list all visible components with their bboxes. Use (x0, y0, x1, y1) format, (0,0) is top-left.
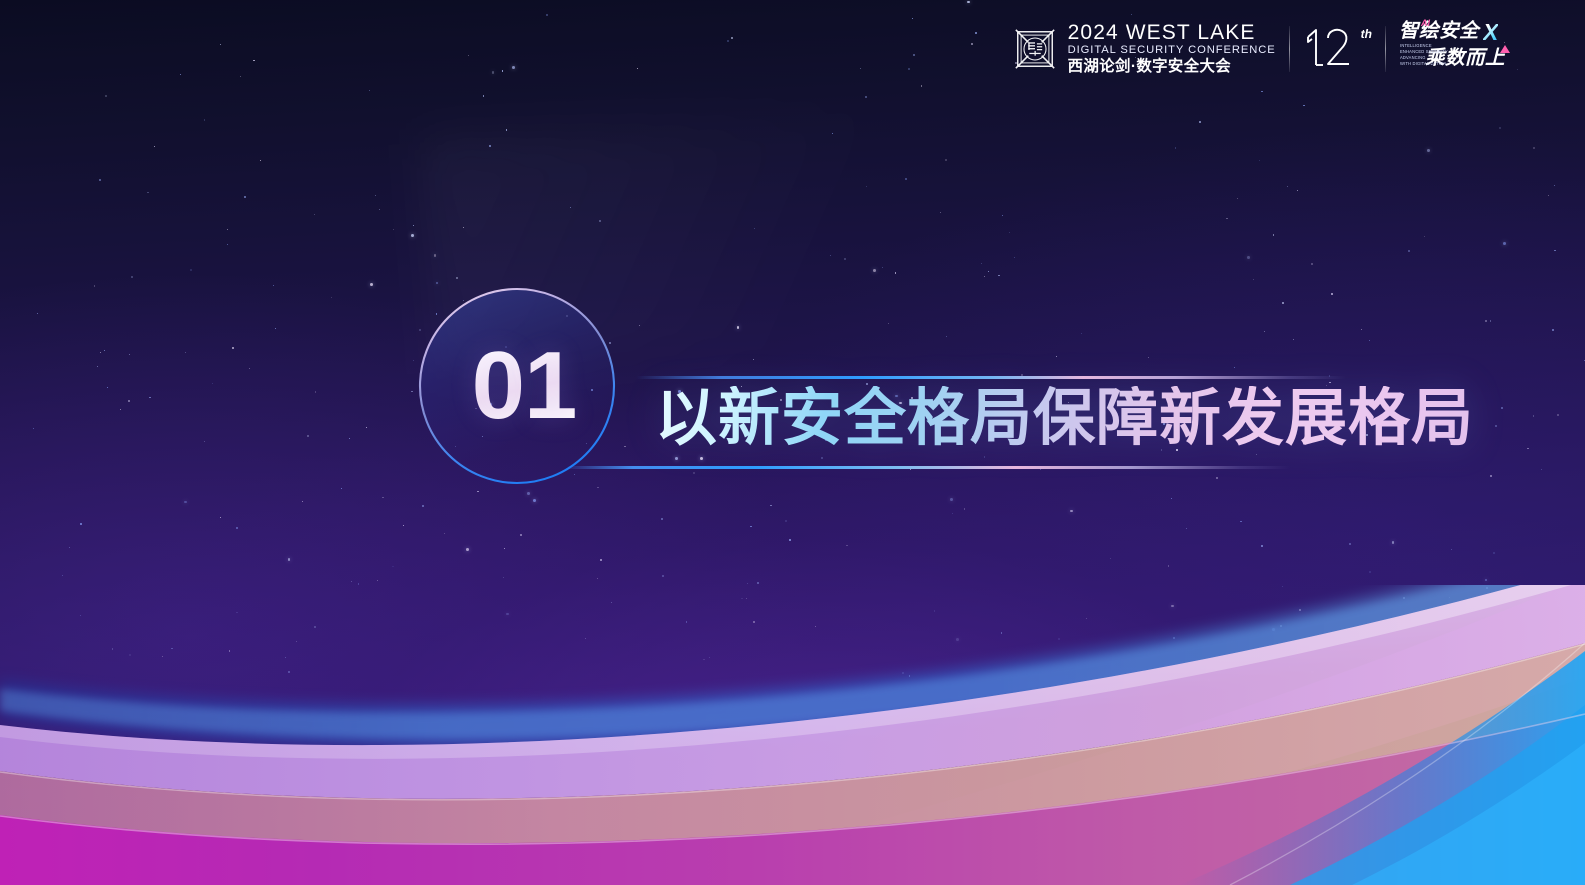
star-dot (700, 457, 703, 460)
star-dot (220, 44, 221, 45)
star-dot (506, 129, 507, 130)
edition-ordinal-label: th (1361, 27, 1372, 41)
star-dot (709, 657, 710, 658)
star-dot (984, 276, 985, 277)
star-dot (162, 656, 163, 657)
star-dot (1058, 638, 1060, 640)
star-dot (288, 671, 290, 673)
star-dot (382, 497, 383, 498)
star-dot (456, 277, 457, 278)
star-dot (769, 430, 770, 431)
star-dot (483, 95, 484, 96)
star-dot (1208, 679, 1211, 682)
star-dot (184, 501, 187, 504)
star-dot (506, 613, 509, 616)
light-streak-decoration (423, 98, 1077, 372)
star-dot (899, 402, 902, 405)
star-dot (1408, 250, 1410, 252)
star-dot (895, 272, 896, 273)
star-dot (913, 54, 915, 56)
star-dot (1485, 320, 1487, 322)
star-dot (411, 234, 414, 237)
star-dot (533, 499, 536, 502)
star-dot (1485, 579, 1488, 582)
star-dot (1166, 377, 1167, 378)
star-dot (204, 441, 205, 442)
bottom-ribbon-decoration (0, 585, 1585, 885)
star-dot (940, 212, 941, 213)
star-dot (814, 410, 816, 412)
star-dot (1369, 571, 1371, 573)
star-dot (1490, 475, 1492, 477)
star-dot (1461, 635, 1463, 637)
conference-year-label: 2024 WEST LAKE (1068, 22, 1276, 44)
star-dot (505, 346, 507, 348)
star-dot (1329, 382, 1330, 383)
star-dot (1282, 586, 1283, 587)
star-dot (662, 575, 664, 577)
conference-name-group: 2024 WEST LAKE DIGITAL SECURITY CONFEREN… (1068, 23, 1276, 75)
star-dot (492, 71, 495, 74)
star-dot (1259, 160, 1260, 161)
star-dot (825, 439, 827, 441)
star-dot (1326, 385, 1327, 386)
title-rule-top (636, 376, 1346, 379)
star-dot (585, 638, 586, 639)
star-dot (815, 626, 816, 627)
star-dot (956, 638, 959, 641)
star-dot (1272, 628, 1275, 631)
conference-subtitle-label: DIGITAL SECURITY CONFERENCE (1068, 43, 1276, 58)
star-dot (1070, 510, 1073, 513)
star-dot (946, 336, 947, 337)
star-dot (69, 547, 70, 548)
conference-logo-lockup: 2024 WEST LAKE DIGITAL SECURITY CONFEREN… (1012, 20, 1517, 78)
slogan-english-lines: INTELLIGENCEENHANCED SECURITYADVANCINGWI… (1400, 43, 1448, 67)
star-dot (1297, 190, 1298, 191)
star-dot (413, 360, 414, 361)
logo-divider-2 (1385, 26, 1386, 72)
star-dot (527, 492, 530, 495)
star-dot (1237, 198, 1238, 199)
edition-badge: th (1303, 25, 1372, 73)
star-dot (1148, 357, 1149, 358)
star-dot (512, 66, 515, 69)
ring-fill (419, 288, 615, 484)
star-dot (866, 186, 867, 187)
star-dot (821, 457, 823, 459)
star-dot (1427, 149, 1430, 152)
star-dot (131, 276, 133, 278)
star-dot (1303, 105, 1304, 106)
star-dot (62, 575, 63, 576)
star-dot (232, 347, 234, 349)
star-dot (1261, 91, 1262, 92)
star-dot (129, 354, 130, 355)
title-rule-bottom (568, 466, 1290, 469)
star-dot (1287, 186, 1288, 187)
star-dot (1541, 469, 1542, 470)
star-dot (731, 37, 733, 39)
star-dot (504, 548, 505, 549)
star-dot (1289, 666, 1290, 667)
star-dot (1533, 147, 1535, 149)
star-dot (952, 513, 953, 514)
star-dot (1329, 375, 1330, 376)
star-dot (482, 436, 483, 437)
star-dot (675, 457, 678, 460)
star-dot (351, 581, 352, 582)
star-dot (503, 577, 504, 578)
section-number-ring (419, 288, 615, 484)
star-dot (393, 229, 394, 230)
star-dot (975, 32, 977, 34)
star-dot (888, 323, 889, 324)
star-dot (1527, 448, 1528, 449)
star-dot (341, 488, 342, 489)
star-dot (468, 55, 469, 56)
logo-divider-1 (1289, 26, 1290, 72)
star-dot (873, 269, 876, 272)
star-dot (1014, 257, 1015, 258)
star-dot (1264, 331, 1265, 332)
star-dot (967, 1, 970, 4)
star-dot (240, 76, 241, 77)
star-dot (661, 518, 663, 520)
star-dot (331, 297, 332, 298)
star-dot (830, 255, 831, 256)
star-dot (1256, 454, 1257, 455)
star-dot (754, 228, 755, 229)
star-dot (910, 469, 911, 470)
star-dot (724, 437, 725, 438)
star-dot (1081, 333, 1082, 334)
star-dot (1385, 685, 1386, 686)
section-title-label: 以新安全格局保障新发展格局 (655, 386, 1474, 451)
star-dot (1163, 423, 1165, 425)
star-dot (1499, 127, 1501, 129)
star-dot (1234, 367, 1235, 368)
star-dot (1554, 185, 1555, 186)
star-dot (1495, 425, 1497, 427)
star-dot (1403, 597, 1405, 599)
star-dot (950, 498, 953, 501)
star-dot (403, 525, 404, 526)
star-dot (912, 18, 913, 19)
star-dot (288, 558, 291, 561)
star-dot (358, 583, 359, 584)
slogan-ai-mark: AI (1421, 19, 1430, 28)
star-dot (1110, 558, 1111, 559)
star-dot (1490, 320, 1491, 321)
star-dot (244, 196, 246, 198)
star-dot (1247, 256, 1250, 259)
star-dot (100, 352, 101, 353)
star-dot (746, 598, 747, 599)
star-dot (97, 366, 98, 367)
star-dot (422, 505, 424, 507)
star-dot (909, 675, 910, 676)
star-dot (463, 227, 464, 228)
star-dot (1446, 641, 1448, 643)
star-dot (1247, 429, 1248, 430)
star-dot (895, 395, 898, 398)
star-dot (1299, 609, 1301, 611)
star-dot (520, 534, 522, 536)
star-dot (112, 648, 113, 649)
star-dot (1161, 449, 1162, 450)
star-dot (1503, 242, 1506, 245)
star-dot (302, 501, 303, 502)
star-dot (1247, 435, 1248, 436)
ring-stroke-icon (417, 286, 617, 486)
star-dot (1176, 449, 1177, 450)
star-dot (998, 275, 999, 276)
star-dot (369, 90, 370, 91)
star-dot (1040, 469, 1041, 470)
star-dot (1171, 498, 1172, 499)
star-dot (599, 220, 601, 222)
star-dot (832, 133, 833, 134)
star-dot (1021, 374, 1023, 376)
star-dot (866, 383, 868, 385)
star-dot (945, 159, 947, 161)
star-dot (981, 263, 982, 264)
star-dot (1486, 587, 1488, 589)
star-dot (686, 403, 689, 406)
star-dot (570, 207, 571, 208)
star-dot (285, 657, 286, 658)
star-dot (1493, 552, 1495, 554)
star-dot (107, 387, 108, 388)
slogan-x-mark: X (1483, 21, 1498, 44)
star-dot (1293, 339, 1294, 340)
star-dot (296, 641, 297, 642)
star-dot (984, 456, 985, 457)
star-dot (149, 397, 150, 398)
star-dot (273, 285, 274, 286)
edition-number-icon (1303, 25, 1359, 69)
star-dot (780, 399, 782, 401)
star-dot (737, 326, 740, 329)
star-dot (1449, 597, 1450, 598)
star-dot (964, 508, 965, 509)
star-dot (314, 214, 315, 215)
star-dot (1349, 543, 1351, 545)
conference-slogan: 智绘安全 AI X 乘数而上 INTELLIGENCEENHANCED SECU… (1399, 21, 1517, 77)
star-dot (488, 370, 489, 371)
star-dot (865, 96, 866, 97)
star-dot (611, 602, 612, 603)
star-dot (753, 359, 754, 360)
star-dot (502, 70, 503, 71)
star-dot (236, 527, 238, 529)
star-dot (1009, 232, 1010, 233)
star-dot (236, 612, 237, 613)
star-dot (1253, 279, 1254, 280)
star-dot (370, 283, 373, 286)
star-dot (1557, 414, 1558, 415)
star-dot (735, 440, 736, 441)
star-dot (1282, 302, 1284, 304)
section-number-label: 01 (419, 288, 615, 484)
star-dot (128, 400, 130, 402)
star-dot (1199, 121, 1201, 123)
star-dot (846, 545, 847, 546)
star-dot (1451, 549, 1452, 550)
star-dot (789, 539, 790, 540)
star-dot (444, 533, 445, 534)
star-dot (1511, 660, 1512, 661)
star-dot (307, 435, 309, 437)
star-dot (600, 559, 602, 561)
star-dot (1068, 402, 1069, 403)
star-dot (905, 178, 907, 180)
star-dot (1331, 293, 1333, 295)
star-dot (1086, 618, 1087, 619)
star-dot (419, 329, 421, 331)
star-dot (1501, 407, 1503, 409)
star-dot (314, 626, 316, 628)
star-dot (609, 342, 611, 344)
star-dot (1424, 236, 1425, 237)
star-dot (204, 119, 205, 120)
star-dot (844, 258, 846, 260)
star-dot (212, 383, 213, 384)
section-title-block: 以新安全格局保障新发展格局 (568, 365, 1348, 480)
star-dot (1261, 545, 1263, 547)
star-dot (678, 390, 681, 393)
star-dot (860, 68, 861, 69)
star-dot (591, 389, 593, 391)
up-arrow-icon (1499, 43, 1511, 73)
star-dot (379, 209, 380, 210)
star-dot (785, 520, 787, 522)
star-dot (1226, 218, 1227, 219)
star-dot (1175, 147, 1176, 148)
star-dot (185, 352, 186, 353)
star-dot (466, 548, 469, 551)
star-dot (597, 487, 598, 488)
star-dot (741, 386, 742, 387)
star-dot (637, 68, 638, 69)
star-dot (475, 408, 476, 409)
west-lake-seal-icon (1012, 26, 1058, 72)
star-dot (377, 580, 378, 581)
star-dot (1104, 435, 1105, 436)
star-dot (413, 225, 414, 226)
star-dot (921, 85, 922, 86)
star-dot (147, 192, 148, 193)
section-header-composition: 01 以新安全格局保障新发展格局 (0, 0, 1585, 885)
star-dot (489, 403, 492, 406)
star-dot (747, 583, 748, 584)
star-dot (411, 391, 412, 392)
star-dot (154, 146, 155, 147)
star-dot (948, 401, 950, 403)
star-dot (463, 300, 464, 301)
star-dot (99, 179, 101, 181)
star-dot (436, 313, 437, 314)
star-dot (220, 517, 221, 518)
star-dot (392, 566, 393, 567)
conference-chinese-label: 西湖论剑·数字安全大会 (1068, 58, 1276, 76)
star-dot (375, 195, 376, 196)
star-dot (1392, 541, 1395, 544)
star-dot (1357, 669, 1358, 670)
star-dot (249, 368, 250, 369)
star-dot (972, 436, 973, 437)
star-dot (104, 350, 105, 351)
star-dot (229, 650, 230, 651)
star-dot (315, 391, 316, 392)
star-dot (1548, 195, 1549, 196)
star-dot (1216, 477, 1218, 479)
star-dot (80, 523, 82, 525)
star-dot (1552, 329, 1554, 331)
star-dot (703, 659, 704, 660)
star-dot (275, 328, 276, 329)
star-dot (908, 68, 910, 70)
star-dot (1346, 630, 1347, 631)
star-dot (693, 472, 695, 474)
star-dot (366, 427, 367, 428)
star-dot (750, 526, 751, 527)
star-dot (1186, 528, 1187, 529)
star-dot (1002, 215, 1003, 216)
star-dot (1361, 329, 1362, 330)
star-dot (190, 269, 192, 271)
star-dot (489, 145, 491, 147)
star-dot (80, 615, 81, 616)
star-dot (727, 40, 729, 42)
star-dot (1001, 632, 1002, 633)
star-dot (597, 578, 598, 579)
star-dot (1131, 14, 1132, 15)
star-dot (1369, 340, 1370, 341)
star-dot (1554, 250, 1555, 251)
star-dot (1533, 415, 1534, 416)
starfield-decoration (0, 0, 1585, 885)
star-dot (105, 95, 107, 97)
star-dot (1311, 263, 1313, 265)
star-dot (1366, 434, 1368, 436)
star-dot (120, 409, 121, 410)
star-dot (934, 610, 935, 611)
star-dot (741, 598, 742, 599)
star-dot (1171, 605, 1174, 608)
star-dot (757, 582, 758, 583)
star-dot (1280, 625, 1282, 627)
star-dot (227, 229, 228, 230)
star-dot (1016, 396, 1017, 397)
star-dot (180, 74, 181, 75)
star-dot (902, 672, 904, 674)
star-dot (686, 621, 687, 622)
star-dot (455, 446, 456, 447)
star-dot (436, 282, 439, 285)
star-dot (1056, 356, 1057, 357)
star-dot (1555, 591, 1556, 592)
star-dot (227, 244, 228, 245)
star-dot (566, 315, 568, 317)
star-dot (434, 254, 437, 257)
presentation-slide: 2024 WEST LAKE DIGITAL SECURITY CONFEREN… (0, 0, 1585, 885)
star-dot (477, 491, 478, 492)
star-dot (1173, 637, 1175, 639)
star-dot (1240, 521, 1241, 522)
star-dot (94, 285, 95, 286)
